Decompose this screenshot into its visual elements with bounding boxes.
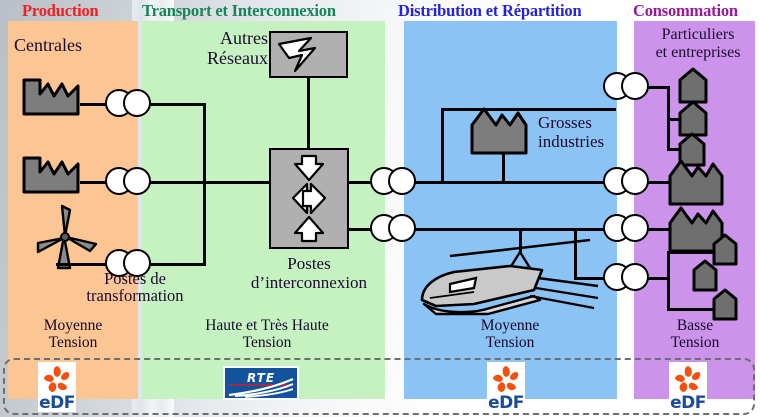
transformer-icon bbox=[105, 89, 151, 117]
section-title-production: Production bbox=[22, 1, 99, 21]
transformer-icon bbox=[603, 72, 649, 100]
transformer-icon bbox=[105, 167, 151, 195]
wire-house-feed-6 bbox=[667, 308, 713, 311]
wire-wind-to-transformer bbox=[56, 263, 108, 266]
wire-branch-up bbox=[441, 108, 444, 183]
voltage-label-transport: Haute et Très Haute Tension bbox=[168, 318, 366, 351]
factory-icon bbox=[468, 105, 534, 155]
label-grosses-industries: Grosses industries bbox=[538, 113, 630, 151]
label-particuliers-entreprises: Particuliers et entreprises bbox=[640, 26, 756, 61]
wire-distribution-bus-top bbox=[415, 181, 615, 184]
operators-dashed-box bbox=[3, 358, 755, 415]
edf-wordmark: eDF bbox=[487, 393, 525, 413]
four-way-arrow-icon bbox=[271, 150, 347, 247]
autres-reseaux-box bbox=[269, 31, 348, 78]
edf-logo: eDF bbox=[38, 362, 76, 412]
rte-logo: RTE bbox=[223, 366, 299, 400]
edf-logo: eDF bbox=[669, 362, 707, 412]
section-title-bar: Production Transport et Interconnexion D… bbox=[0, 0, 760, 22]
wire-bus-bottom bbox=[150, 263, 206, 266]
transformer-icon bbox=[603, 214, 649, 242]
label-centrales: Centrales bbox=[14, 36, 124, 55]
section-title-distribution: Distribution et Répartition bbox=[398, 1, 581, 21]
transformer-icon bbox=[603, 167, 649, 195]
transformer-icon bbox=[603, 263, 649, 291]
edf-wordmark: eDF bbox=[38, 393, 76, 413]
label-postes-transformation: Postes de transformation bbox=[70, 270, 200, 305]
voltage-label-distribution: Moyenne Tension bbox=[420, 318, 600, 351]
section-title-transport: Transport et Interconnexion bbox=[142, 1, 336, 21]
section-title-consommation: Consommation bbox=[633, 1, 738, 21]
transformer-icon bbox=[370, 167, 416, 195]
wire-house-feed-5 bbox=[667, 251, 713, 254]
wire-plant2-to-transformer bbox=[80, 181, 108, 184]
label-postes-interconnexion: Postes d’interconnexion bbox=[228, 255, 390, 292]
factory-icon bbox=[22, 150, 84, 194]
factory-icon bbox=[667, 158, 729, 206]
edf-wordmark: eDF bbox=[669, 393, 707, 413]
wire-distribution-bus-bottom bbox=[415, 228, 615, 231]
wire-autres-reseaux-down bbox=[307, 78, 310, 148]
wire-bus-top bbox=[150, 103, 206, 106]
diagram-canvas: Production Transport et Interconnexion D… bbox=[0, 0, 760, 417]
transformer-icon bbox=[370, 214, 416, 242]
lightning-bolt-icon bbox=[271, 33, 346, 76]
voltage-label-production: Moyenne Tension bbox=[12, 318, 134, 351]
wire-house-riser-2 bbox=[667, 251, 670, 311]
wind-turbine-icon bbox=[28, 200, 106, 272]
edf-logo: eDF bbox=[487, 362, 525, 412]
voltage-label-consommation: Basse Tension bbox=[640, 318, 750, 351]
rte-swoosh-icon bbox=[225, 368, 297, 398]
postes-interconnexion-box bbox=[269, 148, 349, 249]
wire-plant1-to-transformer bbox=[80, 103, 108, 106]
wire-bus-vertical bbox=[203, 103, 206, 266]
house-icon bbox=[710, 287, 742, 321]
factory-icon bbox=[22, 72, 84, 116]
wire-bus-to-interconnection bbox=[150, 181, 270, 184]
tgv-train-icon bbox=[414, 238, 604, 318]
wire-industry-drop bbox=[502, 152, 505, 182]
label-autres-reseaux: Autres Réseaux bbox=[196, 28, 268, 68]
